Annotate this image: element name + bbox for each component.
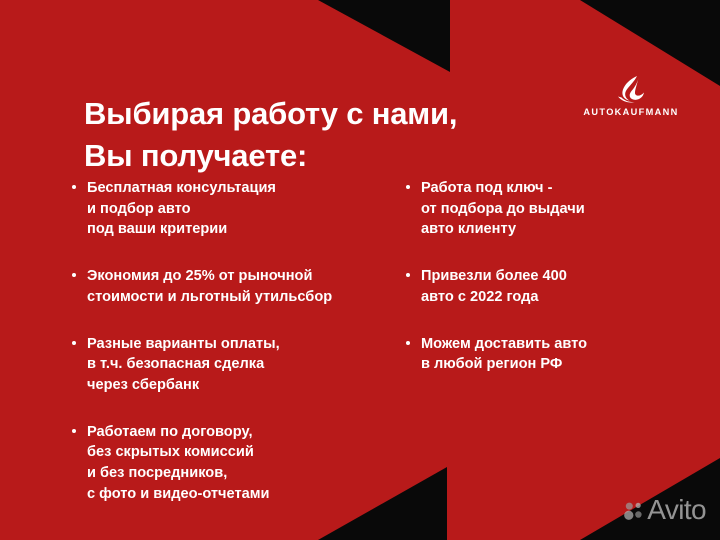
benefit-item: Разные варианты оплаты, в т.ч. безопасна… (70, 334, 400, 396)
benefit-text: Разные варианты оплаты, в т.ч. безопасна… (87, 334, 400, 396)
benefits-column-right: Работа под ключ - от подбора до выдачи а… (404, 178, 704, 401)
avito-watermark: Avito (623, 496, 706, 524)
brand-logo: AUTOKAUFMANN (583, 74, 679, 117)
bullet-dot-icon (72, 341, 76, 345)
benefit-item: Привезли более 400 авто с 2022 года (404, 266, 704, 307)
headline-line-2: Вы получаете: (84, 135, 584, 177)
benefit-item: Можем доставить авто в любой регион РФ (404, 334, 704, 375)
bullet-dot-icon (406, 185, 410, 189)
brand-name: AUTOKAUFMANN (583, 108, 679, 117)
top-left-triangle-shape (318, 0, 450, 72)
benefits-column-left: Бесплатная консультация и подбор авто по… (70, 178, 400, 531)
benefit-text: Привезли более 400 авто с 2022 года (421, 266, 704, 307)
benefit-item: Работа под ключ - от подбора до выдачи а… (404, 178, 704, 240)
page-title: Выбирая работу с нами, Вы получаете: (84, 93, 584, 178)
benefit-text: Бесплатная консультация и подбор авто по… (87, 178, 400, 240)
flame-swoosh-icon (615, 74, 647, 104)
avito-wordmark: Avito (647, 496, 706, 524)
benefits-section: Бесплатная консультация и подбор авто по… (0, 178, 720, 498)
bullet-dot-icon (406, 273, 410, 277)
promo-banner: Выбирая работу с нами, Вы получаете: AUT… (0, 0, 720, 540)
benefit-item: Экономия до 25% от рыночной стоимости и … (70, 266, 400, 307)
benefit-item: Бесплатная консультация и подбор авто по… (70, 178, 400, 240)
headline-line-1: Выбирая работу с нами, (84, 93, 584, 135)
bullet-dot-icon (72, 185, 76, 189)
bullet-dot-icon (72, 429, 76, 433)
avito-dots-icon (623, 500, 644, 521)
benefit-text: Работаем по договору, без скрытых комисс… (87, 422, 400, 505)
bullet-dot-icon (72, 273, 76, 277)
benefit-text: Работа под ключ - от подбора до выдачи а… (421, 178, 704, 240)
benefit-text: Можем доставить авто в любой регион РФ (421, 334, 704, 375)
benefit-item: Работаем по договору, без скрытых комисс… (70, 422, 400, 505)
bullet-dot-icon (406, 341, 410, 345)
benefit-text: Экономия до 25% от рыночной стоимости и … (87, 266, 400, 307)
